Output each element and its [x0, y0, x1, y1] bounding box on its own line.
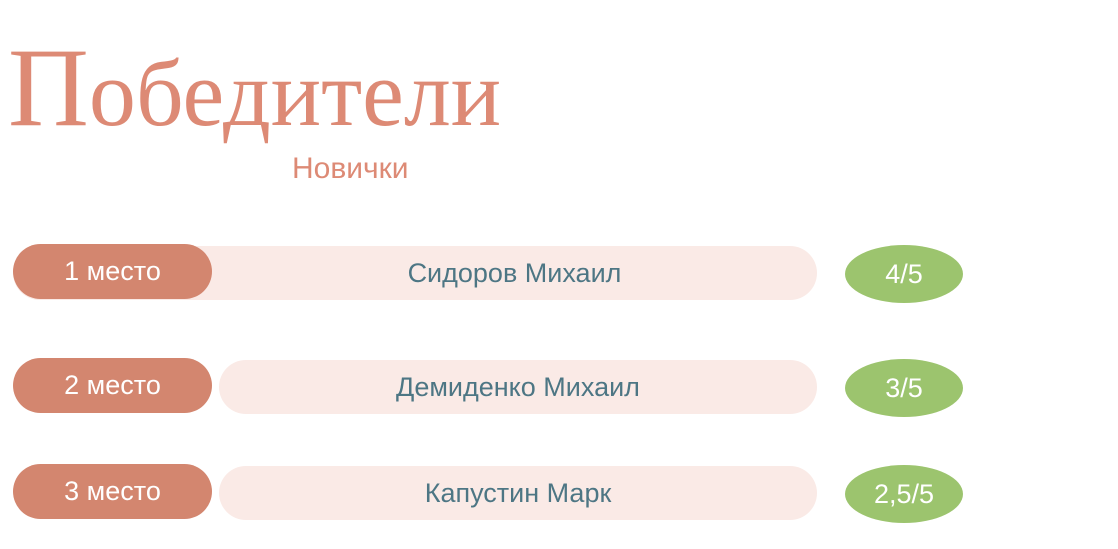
score-badge-2: 3/5	[845, 359, 963, 417]
winners-slide: Победители Новички Сидоров Михаил 1 мест…	[0, 0, 1118, 549]
winner-name-1: Сидоров Михаил	[212, 246, 817, 300]
winners-list: Сидоров Михаил 1 место 4/5 Демиденко Мих…	[0, 0, 1118, 549]
winner-row-1: Сидоров Михаил 1 место 4/5	[0, 244, 1118, 302]
winner-name-2: Демиденко Михаил	[219, 360, 817, 414]
winner-name-3: Капустин Марк	[219, 466, 817, 520]
place-badge-1: 1 место	[13, 244, 212, 299]
winner-row-2: Демиденко Михаил 2 место 3/5	[0, 358, 1118, 416]
place-badge-3: 3 место	[13, 464, 212, 519]
score-badge-3: 2,5/5	[845, 465, 963, 523]
winner-row-3: Капустин Марк 3 место 2,5/5	[0, 464, 1118, 522]
place-badge-2: 2 место	[13, 358, 212, 413]
score-badge-1: 4/5	[845, 245, 963, 303]
